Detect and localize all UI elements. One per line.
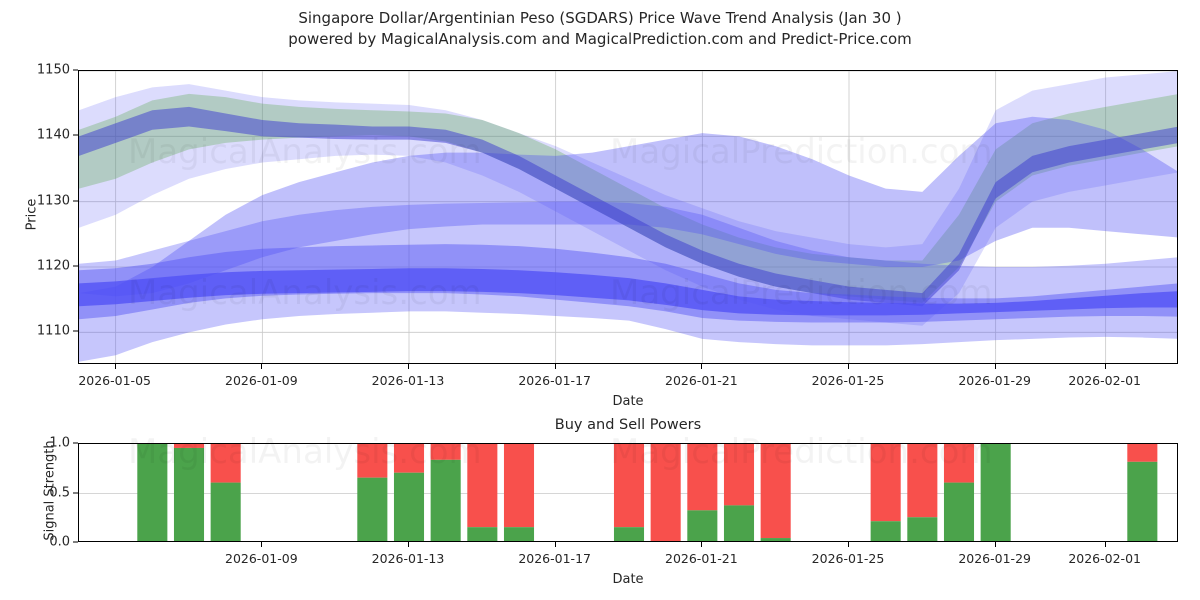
buy-power-bar [981, 444, 1011, 542]
sell-power-bar [871, 444, 901, 521]
buy-power-bar [1127, 462, 1157, 542]
price-x-tick-mark [555, 364, 556, 369]
sell-power-bar [504, 444, 534, 527]
buy-power-bar [761, 538, 791, 542]
signal-x-tick-label: 2026-01-25 [812, 551, 885, 566]
sell-power-bar [394, 444, 424, 473]
sell-power-bar [687, 444, 717, 510]
signal-x-tick-mark [261, 542, 262, 547]
sell-power-bar [907, 444, 937, 517]
buy-power-bar [944, 483, 974, 542]
price-y-tick-mark [73, 331, 78, 332]
buy-power-bar [614, 527, 644, 542]
sell-power-bar [614, 444, 644, 527]
sell-power-bar [1127, 444, 1157, 462]
title-line-2: powered by MagicalAnalysis.com and Magic… [0, 29, 1200, 50]
signal-x-tick-mark [995, 542, 996, 547]
sell-power-bar [761, 444, 791, 538]
price-x-tick-label: 2026-01-25 [812, 373, 885, 388]
signal-plot-area [78, 443, 1178, 542]
signal-y-tick-mark [73, 542, 78, 543]
price-x-tick-mark [701, 364, 702, 369]
price-x-tick-label: 2026-01-29 [958, 373, 1031, 388]
signal-y-tick-label: 0.5 [49, 485, 70, 500]
page-title: Singapore Dollar/Argentinian Peso (SGDAR… [0, 8, 1200, 50]
signal-y-tick-mark [73, 443, 78, 444]
price-x-tick-label: 2026-01-21 [665, 373, 738, 388]
price-x-tick-mark [115, 364, 116, 369]
price-x-tick-label: 2026-02-01 [1068, 373, 1141, 388]
buy-power-bar [467, 527, 497, 542]
sell-power-bar [651, 444, 681, 542]
price-x-tick-mark [408, 364, 409, 369]
title-line-1: Singapore Dollar/Argentinian Peso (SGDAR… [0, 8, 1200, 29]
sell-power-bar [944, 444, 974, 483]
price-y-tick-mark [73, 70, 78, 71]
price-chart-panel: Price Date 11101120113011401150 2026-01-… [78, 70, 1178, 364]
signal-x-tick-label: 2026-01-09 [225, 551, 298, 566]
signal-y-tick-label: 1.0 [49, 436, 70, 451]
price-y-tick-label: 1110 [37, 324, 70, 339]
price-x-axis-label: Date [612, 394, 643, 409]
buy-power-bar [724, 505, 754, 542]
signal-x-tick-label: 2026-01-13 [372, 551, 445, 566]
buy-power-bar [174, 448, 204, 542]
signal-y-tick-mark [73, 492, 78, 493]
price-x-tick-mark [1105, 364, 1106, 369]
signal-x-tick-mark [1105, 542, 1106, 547]
signal-x-axis-label: Date [612, 572, 643, 587]
signal-x-tick-mark [408, 542, 409, 547]
price-x-tick-label: 2026-01-17 [518, 373, 591, 388]
signal-x-tick-label: 2026-01-29 [958, 551, 1031, 566]
chart-page: Singapore Dollar/Argentinian Peso (SGDAR… [0, 0, 1200, 600]
sell-power-bar [211, 444, 241, 483]
buy-power-bar [871, 521, 901, 542]
buy-sell-bars-svg [79, 444, 1178, 542]
price-plot-area [78, 70, 1178, 364]
bar-chart-title: Buy and Sell Powers [555, 417, 701, 433]
price-y-tick-mark [73, 200, 78, 201]
sell-power-bar [724, 444, 754, 505]
signal-y-tick-label: 0.0 [49, 535, 70, 550]
signal-x-tick-mark [555, 542, 556, 547]
price-y-tick-label: 1150 [37, 63, 70, 78]
price-x-tick-label: 2026-01-09 [225, 373, 298, 388]
signal-x-tick-mark [701, 542, 702, 547]
buy-power-bar [211, 483, 241, 542]
sell-power-bar [174, 444, 204, 448]
buy-power-bar [504, 527, 534, 542]
price-x-tick-mark [848, 364, 849, 369]
buy-power-bar [907, 517, 937, 542]
sell-power-bar [431, 444, 461, 460]
buy-power-bar [687, 510, 717, 542]
price-y-tick-label: 1120 [37, 259, 70, 274]
price-x-tick-mark [995, 364, 996, 369]
buy-power-bar [357, 478, 387, 542]
price-x-tick-mark [261, 364, 262, 369]
signal-x-tick-mark [848, 542, 849, 547]
sell-power-bar [357, 444, 387, 478]
buy-power-bar [137, 444, 167, 542]
price-wave-svg [79, 71, 1178, 364]
signal-x-tick-label: 2026-01-17 [518, 551, 591, 566]
signal-chart-panel: Buy and Sell Powers Signal Strength Date… [78, 443, 1178, 542]
buy-power-bar [394, 473, 424, 542]
price-x-tick-label: 2026-01-05 [78, 373, 151, 388]
price-y-tick-label: 1130 [37, 193, 70, 208]
price-y-tick-label: 1140 [37, 128, 70, 143]
buy-power-bar [431, 460, 461, 542]
price-y-tick-mark [73, 266, 78, 267]
price-x-tick-label: 2026-01-13 [372, 373, 445, 388]
signal-x-tick-label: 2026-01-21 [665, 551, 738, 566]
sell-power-bar [467, 444, 497, 527]
signal-x-tick-label: 2026-02-01 [1068, 551, 1141, 566]
price-y-tick-mark [73, 135, 78, 136]
